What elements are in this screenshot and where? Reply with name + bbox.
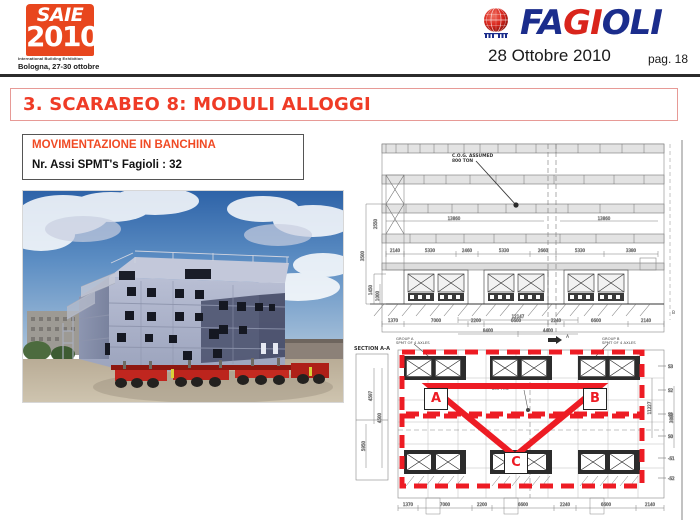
- svg-text:1450: 1450: [368, 284, 373, 295]
- svg-text:6600: 6600: [601, 502, 612, 507]
- svg-text:13860: 13860: [448, 216, 461, 221]
- marker-label-b: B: [583, 388, 607, 410]
- svg-text:5950: 5950: [361, 440, 366, 451]
- fagioli-part-2: GI: [563, 3, 602, 43]
- fagioli-wordmark: FAGIOLI: [520, 4, 662, 42]
- svg-text:SPMT OF 4 AXLES: SPMT OF 4 AXLES: [602, 340, 636, 345]
- svg-text:1370: 1370: [403, 502, 414, 507]
- globe-icon: [480, 6, 514, 40]
- svg-text:2240: 2240: [560, 502, 571, 507]
- section-label: SECTION A-A: [354, 346, 390, 352]
- callout-detail: Nr. Assi SPMT's Fagioli : 32: [32, 159, 182, 171]
- header-date: 28 Ottobre 2010: [488, 46, 611, 66]
- svg-text:2460: 2460: [462, 248, 473, 253]
- site-photo: [22, 190, 344, 403]
- saie-logo-subtitle-2: Bologna, 27-30 ottobre: [18, 62, 104, 71]
- fagioli-part-1: FA: [520, 3, 563, 43]
- slide-title-box: 3. SCARABEO 8: MODULI ALLOGGI: [10, 88, 678, 121]
- svg-text:5330: 5330: [499, 248, 510, 253]
- svg-text:7000: 7000: [431, 318, 442, 323]
- svg-text:B: B: [672, 310, 675, 316]
- svg-text:S3: S3: [668, 364, 674, 369]
- svg-text:4400: 4400: [543, 328, 554, 333]
- svg-text:7000: 7000: [440, 502, 451, 507]
- svg-text:6600: 6600: [518, 502, 529, 507]
- svg-text:SPMT OF 4 AXLES: SPMT OF 4 AXLES: [396, 340, 430, 345]
- marker-label-c: C: [504, 452, 528, 474]
- svg-text:5330: 5330: [575, 248, 586, 253]
- header-page-number: pag. 18: [648, 52, 688, 66]
- svg-text:13860: 13860: [598, 216, 611, 221]
- svg-text:2140: 2140: [390, 248, 401, 253]
- page-header: SAIE 2010 International Building Exhibit…: [0, 0, 700, 74]
- callout-box: MOVIMENTAZIONE IN BANCHINA Nr. Assi SPMT…: [22, 134, 304, 180]
- svg-text:2660: 2660: [538, 248, 549, 253]
- svg-text:3500: 3500: [360, 250, 365, 261]
- fagioli-part-3: OLI: [602, 3, 662, 43]
- svg-text:2240: 2240: [551, 318, 562, 323]
- saie-logo-subtitle-1: International Building Exhibition: [18, 56, 98, 61]
- svg-text:2200: 2200: [471, 318, 482, 323]
- svg-text:2140: 2140: [645, 502, 656, 507]
- svg-text:3380: 3380: [626, 248, 637, 253]
- svg-text:2140: 2140: [641, 318, 652, 323]
- spmt-plan-top: [404, 356, 640, 380]
- fagioli-logo: FAGIOLI 28 Ottobre 2010 pag. 18: [472, 2, 692, 72]
- svg-text:12147: 12147: [512, 314, 525, 319]
- svg-text:2200: 2200: [477, 502, 488, 507]
- svg-text:8400: 8400: [483, 328, 494, 333]
- svg-text:4597: 4597: [368, 390, 373, 401]
- marker-label-a: A: [424, 388, 448, 410]
- saie-logo-year: 2010: [26, 22, 94, 52]
- svg-text:1370: 1370: [388, 318, 399, 323]
- svg-text:-S1: -S1: [668, 456, 675, 461]
- page-title: 3. SCARABEO 8: MODULI ALLOGGI: [23, 94, 371, 115]
- svg-text:-S2: -S2: [668, 476, 675, 481]
- svg-text:6600: 6600: [591, 318, 602, 323]
- svg-text:1000: 1000: [375, 290, 380, 301]
- svg-text:2550: 2550: [373, 218, 378, 229]
- callout-heading: MOVIMENTAZIONE IN BANCHINA: [32, 139, 216, 151]
- saie-logo-badge: SAIE 2010: [26, 4, 94, 56]
- svg-text:S1: S1: [668, 412, 674, 417]
- svg-text:S0: S0: [668, 434, 674, 439]
- svg-text:5330: 5330: [425, 248, 436, 253]
- svg-text:4500: 4500: [377, 412, 382, 423]
- svg-text:S2: S2: [668, 388, 674, 393]
- svg-text:11227: 11227: [647, 401, 652, 414]
- header-divider: [0, 74, 700, 77]
- svg-text:800 TON: 800 TON: [452, 158, 473, 164]
- saie-logo: SAIE 2010 International Building Exhibit…: [8, 4, 96, 70]
